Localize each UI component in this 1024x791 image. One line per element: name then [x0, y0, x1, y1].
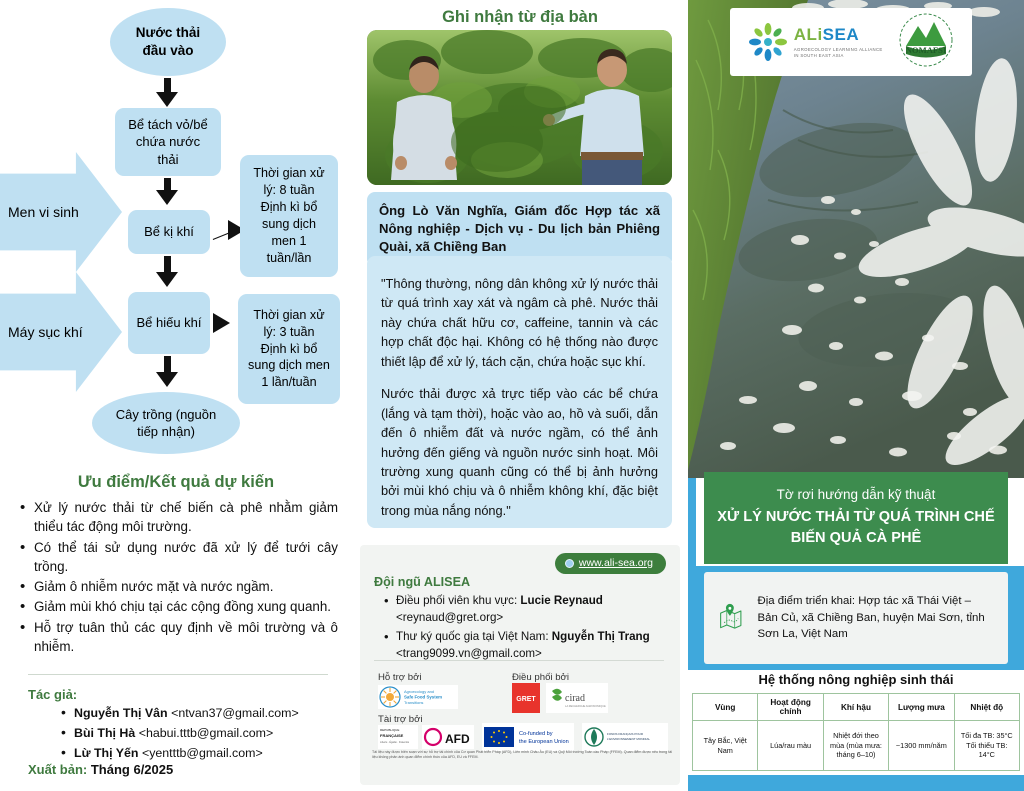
table-cell: Nhiệt đới theo mùa (mùa mưa: tháng 6–10) [823, 721, 888, 771]
team-list: Điều phối viên khu vực: Lucie Reynaud <r… [376, 593, 676, 666]
eco-system-block: Hệ thống nông nghiệp sinh thái Vùng Hoạt… [688, 670, 1024, 791]
supporter-logo: Agroecology and Safe Food System Transit… [378, 685, 458, 709]
svg-text:Transitions: Transitions [404, 700, 423, 705]
svg-text:REPUBLIQUE: REPUBLIQUE [380, 728, 399, 732]
list-item: Có thể tái sử dụng nước đã xử lý để tưới… [34, 538, 338, 577]
list-item: Điều phối viên khu vực: Lucie Reynaud <r… [396, 593, 676, 626]
cover-title: XỬ LÝ NƯỚC THẢI TỪ QUÁ TRÌNH CHẾ BIẾN QU… [714, 507, 998, 548]
list-item: Giảm mùi khó chịu tại các cộng đồng xung… [34, 597, 338, 616]
svg-text:Liberté · Égalité · Fraternité: Liberté · Égalité · Fraternité [380, 741, 410, 744]
flow-arrow-1-head [156, 92, 178, 107]
alisea-name-part1: ALi [794, 25, 823, 44]
author-email: <ntvan37@gmail.com> [171, 706, 299, 720]
benefits-list: Xử lý nước thải từ chế biến cà phê nhằm … [0, 498, 352, 657]
coordinator-logo-cirad: cirad LA RECHERCHE AGRONOMIQUE [546, 683, 608, 713]
list-item: Lừ Thị Yến <yentttb@gmail.com> [74, 743, 299, 763]
team-title: Đội ngũ ALISEA [374, 575, 470, 589]
nomafsi-text: NOMAFSI [906, 45, 947, 55]
authors-divider [28, 674, 328, 675]
input-aerator-arrow: Máy sục khí [0, 272, 122, 392]
interview-quote: "Thông thường, nông dân không xử lý nước… [367, 256, 672, 528]
node-receiving-crops-label: Cây trồng (nguồn tiếp nhận) [116, 406, 216, 440]
funding-disclaimer: Tài liệu này được biên soạn với sự hỗ tr… [372, 750, 672, 761]
publish-line: Xuất bản: Tháng 6/2025 [28, 762, 173, 777]
alisea-footer: www.ali-sea.org Đội ngũ ALISEA Điều phối… [360, 545, 680, 785]
table-row: Tây Bắc, Việt Nam Lúa/rau màu Nhiệt đới … [693, 721, 1020, 771]
alisea-tagline: AGROECOLOGY LEARNING ALLIANCE IN SOUTH E… [794, 47, 883, 60]
team-email: <reynaud@gret.org> [396, 611, 503, 624]
funder-logo-republique: REPUBLIQUE FRANÇAISE Liberté · Égalité ·… [378, 725, 418, 749]
funder-logo-ffem: FONDS FRANÇAIS POUR L'ENVIRONNEMENT MOND… [582, 723, 668, 751]
svg-text:Safe Food System: Safe Food System [404, 695, 442, 700]
team-name: Nguyễn Thị Trang [552, 630, 650, 643]
list-item: Thư ký quốc gia tại Việt Nam: Nguyễn Thị… [396, 629, 676, 662]
node-input-wastewater-label: Nước thải đầu vào [136, 24, 200, 60]
team-name: Lucie Reynaud [520, 594, 602, 607]
node-aerobic-duration: Thời gian xử lý: 3 tuần Định kì bổ sung … [238, 294, 340, 404]
table-cell: ~1300 mm/năm [889, 721, 954, 771]
flow-arrow-3-head [156, 272, 178, 287]
author-name: Lừ Thị Yến [74, 746, 139, 760]
cover-subtitle: Tờ rơi hướng dẫn kỹ thuật [714, 485, 998, 505]
list-item: Giảm ô nhiễm nước mặt và nước ngầm. [34, 577, 338, 596]
table-header-cell: Khí hậu [823, 694, 888, 721]
field-photo [367, 30, 672, 185]
list-item: Nguyễn Thị Vân <ntvan37@gmail.com> [74, 703, 299, 723]
svg-text:cirad: cirad [565, 693, 585, 704]
team-email: <trang9099.vn@gmail.com> [396, 647, 542, 660]
node-separation-tank: Bể tách vỏ/bể chứa nước thải [115, 108, 221, 176]
map-pin-icon [718, 589, 744, 647]
svg-text:GRET: GRET [516, 696, 536, 703]
leaflet-page: Men vi sinh Máy sục khí Nước thải đầu và… [0, 0, 1024, 791]
alisea-logo: ALiSEA AGROECOLOGY LEARNING ALLIANCE IN … [748, 22, 883, 62]
node-anaerobic-tank-label: Bể kị khí [144, 223, 194, 240]
alisea-wordmark-text: ALiSEA AGROECOLOGY LEARNING ALLIANCE IN … [794, 25, 883, 60]
svg-text:LA RECHERCHE AGRONOMIQUE: LA RECHERCHE AGRONOMIQUE [565, 704, 606, 708]
eco-table-title: Hệ thống nông nghiệp sinh thái [688, 672, 1024, 687]
supported-by-label: Hỗ trợ bởi [378, 672, 422, 683]
quote-paragraph-1: "Thông thường, nông dân không xử lý nước… [381, 274, 658, 371]
table-cell: Lúa/rau màu [758, 721, 823, 771]
author-email: <yentttb@gmail.com> [142, 746, 263, 760]
svg-text:FONDS FRANÇAIS POUR: FONDS FRANÇAIS POUR [607, 732, 644, 736]
team-role: Thư ký quốc gia tại Việt Nam: [396, 630, 549, 643]
table-header-cell: Vùng [693, 694, 758, 721]
svg-text:L'ENVIRONNEMENT MONDIAL: L'ENVIRONNEMENT MONDIAL [607, 737, 650, 741]
node-input-wastewater: Nước thải đầu vào [110, 8, 226, 76]
node-anaerobic-duration: Thời gian xử lý: 8 tuần Định kì bổ sung … [240, 155, 338, 277]
flowchart-column: Men vi sinh Máy sục khí Nước thải đầu và… [0, 0, 352, 791]
coordinator-logo-gret: GRET [512, 683, 540, 713]
field-notes-column: Ghi nhận từ địa bàn [352, 0, 688, 791]
website-badge[interactable]: www.ali-sea.org [555, 553, 666, 574]
node-anaerobic-duration-label: Thời gian xử lý: 8 tuần Định kì bổ sung … [253, 165, 324, 266]
input-microbes-label: Men vi sinh [8, 204, 79, 220]
flow-arrow-2-head [156, 190, 178, 205]
list-item: Bùi Thị Hà <habui.tttb@gmail.com> [74, 723, 299, 743]
node-anaerobic-tank: Bể kị khí [128, 210, 210, 254]
footer-divider [374, 660, 664, 661]
cover-column: ALiSEA AGROECOLOGY LEARNING ALLIANCE IN … [688, 0, 1024, 791]
author-email: <habui.tttb@gmail.com> [139, 726, 274, 740]
svg-text:Co-funded by: Co-funded by [519, 731, 553, 737]
input-microbes-arrow: Men vi sinh [0, 152, 122, 272]
aerobic-time-arrowhead [213, 313, 230, 333]
svg-text:Agroecology and: Agroecology and [404, 689, 434, 694]
table-header-row: Vùng Hoạt động chính Khí hậu Lượng mưa N… [693, 694, 1020, 721]
publish-value: Tháng 6/2025 [91, 762, 173, 777]
globe-icon [565, 559, 574, 568]
node-aerobic-tank: Bể hiếu khí [128, 292, 210, 354]
author-name: Bùi Thị Hà [74, 726, 135, 740]
svg-text:the European Union: the European Union [519, 739, 569, 745]
flow-arrow-4-head [156, 372, 178, 387]
node-aerobic-tank-label: Bể hiếu khí [136, 314, 201, 331]
benefits-title: Ưu điểm/Kết quả dự kiến [0, 473, 352, 492]
logo-card: ALiSEA AGROECOLOGY LEARNING ALLIANCE IN … [730, 8, 972, 76]
location-card: Địa điểm triển khai: Hợp tác xã Thái Việ… [704, 572, 1008, 664]
table-header-cell: Hoạt động chính [758, 694, 823, 721]
nomafsi-logo: NOMAFSI [898, 12, 954, 73]
quote-paragraph-2: Nước thải được xả trực tiếp vào các bể c… [381, 384, 658, 520]
funded-by-label: Tài trợ bởi [378, 714, 423, 725]
funder-logo-afd: AFD [422, 725, 474, 749]
node-aerobic-duration-label: Thời gian xử lý: 3 tuần Định kì bổ sung … [248, 307, 330, 391]
team-role: Điều phối viên khu vực: [396, 594, 517, 607]
publish-label: Xuất bản: [28, 762, 87, 777]
svg-text:FRANÇAISE: FRANÇAISE [380, 733, 404, 738]
coordinated-by-label: Điều phối bởi [512, 672, 569, 683]
field-notes-title: Ghi nhận từ địa bàn [352, 8, 688, 27]
cover-title-block: Tờ rơi hướng dẫn kỹ thuật XỬ LÝ NƯỚC THẢ… [704, 472, 1008, 564]
cyan-bottom-bar [688, 775, 1024, 791]
list-item: Hỗ trợ tuân thủ các quy định về môi trườ… [34, 618, 338, 657]
table-header-cell: Lượng mưa [889, 694, 954, 721]
node-receiving-crops: Cây trồng (nguồn tiếp nhận) [92, 392, 240, 454]
authors-label: Tác giả: [28, 687, 77, 702]
website-url[interactable]: www.ali-sea.org [579, 557, 653, 569]
list-item: Xử lý nước thải từ chế biến cà phê nhằm … [34, 498, 338, 537]
alisea-name-part2: SEA [823, 25, 859, 44]
table-cell: Tây Bắc, Việt Nam [693, 721, 758, 771]
table-cell: Tối đa TB: 35°C Tối thiểu TB: 14°C [954, 721, 1019, 771]
node-separation-tank-label: Bể tách vỏ/bể chứa nước thải [128, 116, 208, 168]
table-header-cell: Nhiệt độ [954, 694, 1019, 721]
author-name: Nguyễn Thị Vân [74, 706, 168, 720]
authors-list: Nguyễn Thị Vân <ntvan37@gmail.com> Bùi T… [44, 703, 299, 763]
svg-text:AFD: AFD [445, 732, 470, 746]
input-aerator-label: Máy sục khí [8, 324, 83, 340]
funder-logo-eu: Co-funded by the European Union [482, 723, 574, 751]
eco-table: Vùng Hoạt động chính Khí hậu Lượng mưa N… [692, 693, 1020, 771]
alisea-mark-icon [748, 22, 788, 62]
location-text: Địa điểm triển khai: Hợp tác xã Thái Việ… [758, 593, 994, 643]
